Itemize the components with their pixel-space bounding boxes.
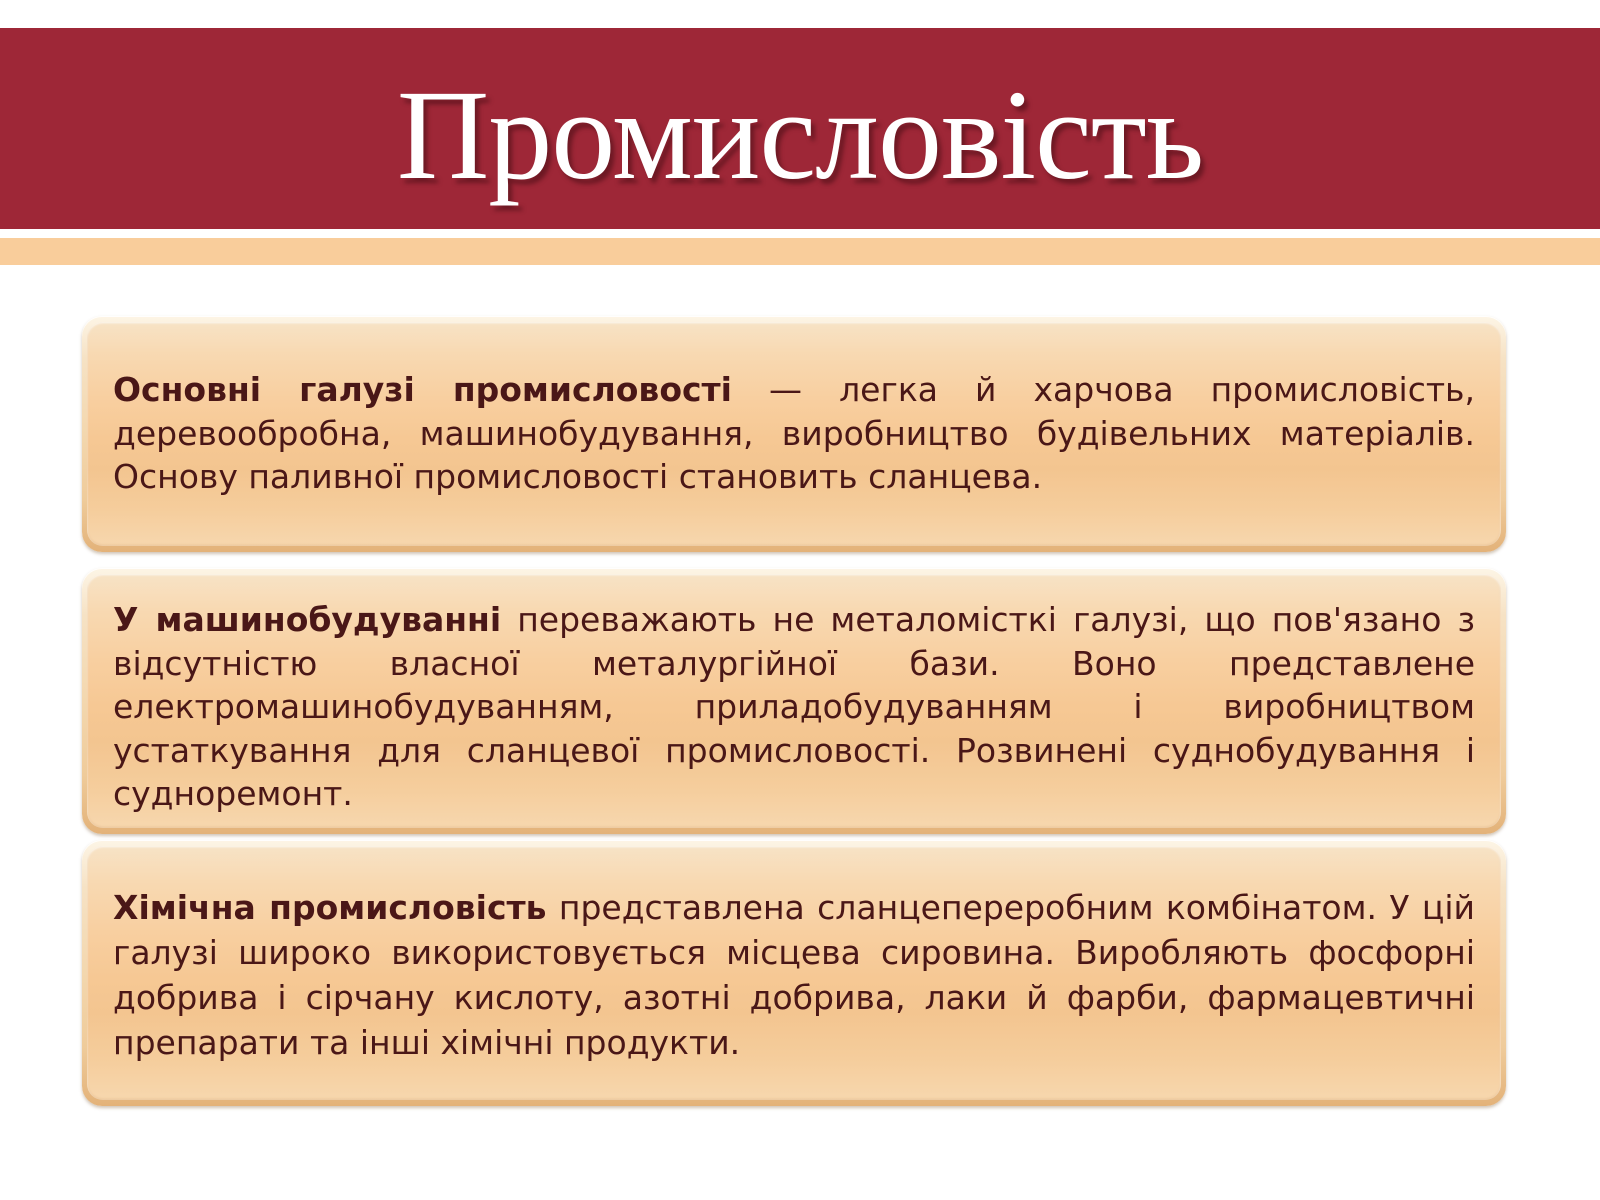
slide-root: Промисловість Основні галузі промисловос… xyxy=(0,0,1600,1200)
text-box-machine-building[interactable]: У машинобудуванні переважають не металом… xyxy=(82,568,1506,834)
text-box-chemical-industry[interactable]: Хімічна промисловість представлена сланц… xyxy=(82,840,1506,1106)
text-box-inner: Основні галузі промисловості — легка й х… xyxy=(87,322,1501,546)
paragraph: Хімічна промисловість представлена сланц… xyxy=(113,886,1475,1066)
text-box-inner: У машинобудуванні переважають не металом… xyxy=(87,574,1501,828)
paragraph: У машинобудуванні переважають не металом… xyxy=(113,598,1475,816)
paragraph-lead: У машинобудуванні xyxy=(113,600,501,639)
paragraph: Основні галузі промисловості — легка й х… xyxy=(113,368,1475,499)
text-box-main-industries[interactable]: Основні галузі промисловості — легка й х… xyxy=(82,316,1506,552)
text-box-inner: Хімічна промисловість представлена сланц… xyxy=(87,846,1501,1100)
paragraph-lead: Основні галузі промисловості xyxy=(113,370,732,409)
paragraph-lead: Хімічна промисловість xyxy=(113,888,547,927)
content-area: Основні галузі промисловості — легка й х… xyxy=(0,0,1600,1200)
